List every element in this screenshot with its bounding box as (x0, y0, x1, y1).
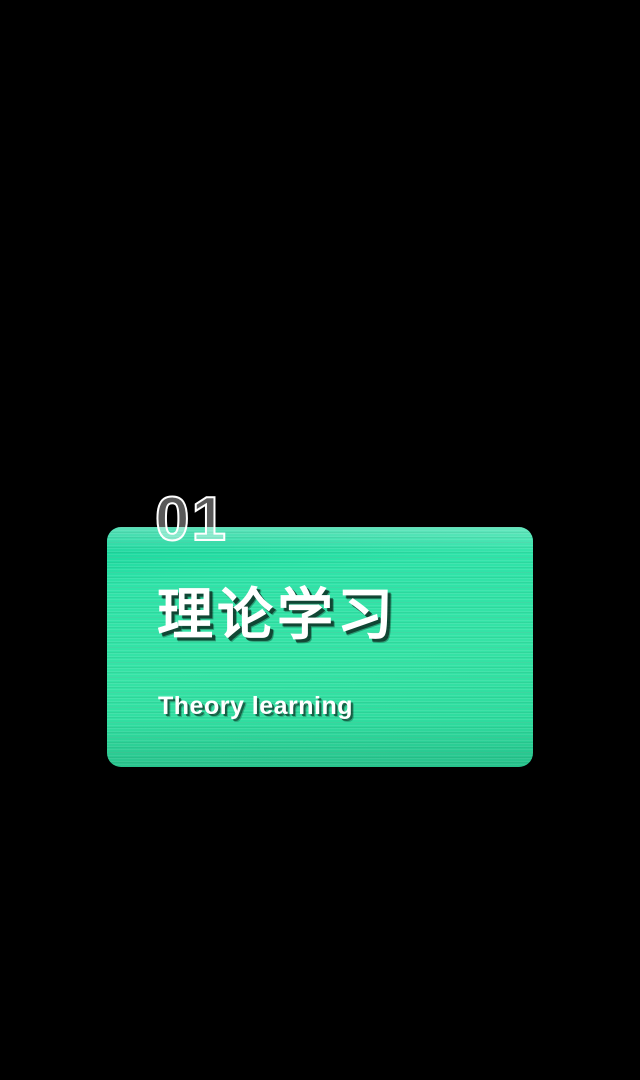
slide-canvas: 01 理论学习 Theory learning (0, 0, 640, 1080)
section-number: 01 (155, 489, 228, 551)
card-bottom-shade (107, 719, 533, 767)
section-title-english: Theory learning (158, 694, 353, 719)
section-title-chinese: 理论学习 (157, 588, 397, 644)
